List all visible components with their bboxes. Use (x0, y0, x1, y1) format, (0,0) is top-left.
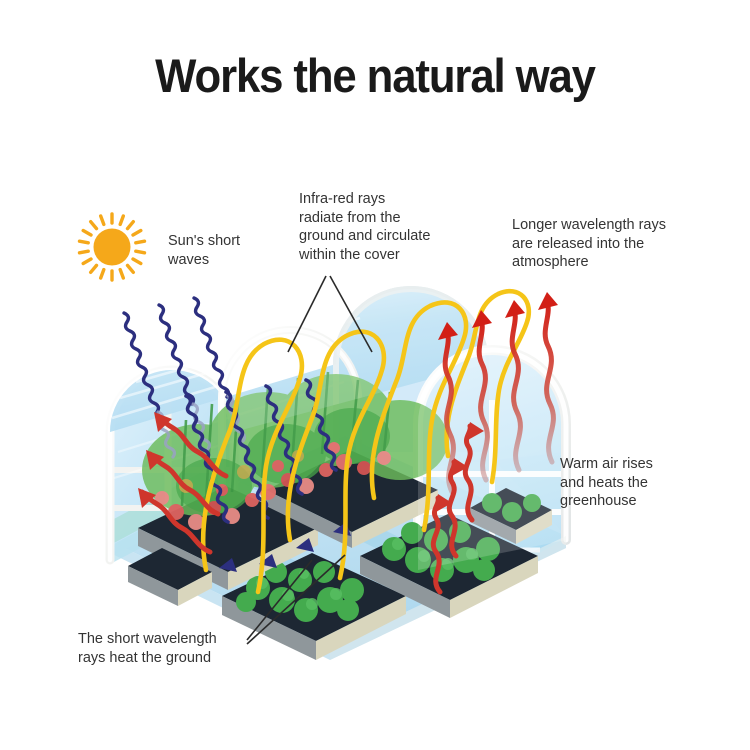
caption-infrared-rays: Infra-red rays radiate from the ground a… (299, 190, 430, 264)
sun-icon (80, 214, 145, 280)
caption-sun-short-waves: Sun's short waves (168, 232, 240, 269)
caption-longer-wavelength-rays: Longer wavelength rays are released into… (512, 216, 666, 272)
infographic-canvas: Works the natural way (0, 0, 750, 750)
caption-warm-air-rises: Warm air rises and heats the greenhouse (560, 455, 653, 511)
caption-short-wavelength-ground: The short wavelength rays heat the groun… (78, 630, 217, 667)
